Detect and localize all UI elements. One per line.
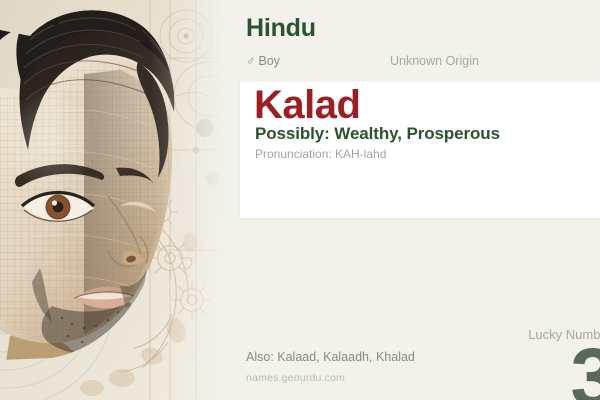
lucky-number-block: Lucky Number 3 <box>354 328 600 400</box>
name-pronunciation: Pronunciation: KAH-lahd <box>255 148 386 161</box>
meta-row: ♂Boy Unknown Origin <box>246 54 586 72</box>
lucky-number-label: Lucky Number <box>354 328 600 341</box>
content-area: Hindu ♂Boy Unknown Origin Kalad Possibly… <box>232 0 600 400</box>
site-attribution: names.geourdu.com <box>246 372 345 384</box>
name-meaning: Possibly: Wealthy, Prosperous <box>255 125 500 144</box>
name-detail-card: Hindu ♂Boy Unknown Origin Kalad Possibly… <box>0 0 600 400</box>
portrait-artwork <box>0 0 232 400</box>
name-heading: Kalad <box>254 84 360 127</box>
origin-label: Unknown Origin <box>390 54 479 68</box>
male-symbol-icon: ♂ <box>246 54 255 68</box>
portrait-illustration <box>0 0 232 400</box>
name-card: Kalad Possibly: Wealthy, Prosperous Pron… <box>240 82 600 218</box>
gender-meta: ♂Boy <box>246 54 280 68</box>
alternate-spellings: Also: Kalaad, Kalaadh, Khalad <box>246 350 415 364</box>
gender-label: Boy <box>258 54 280 68</box>
religion-title: Hindu <box>246 16 316 41</box>
